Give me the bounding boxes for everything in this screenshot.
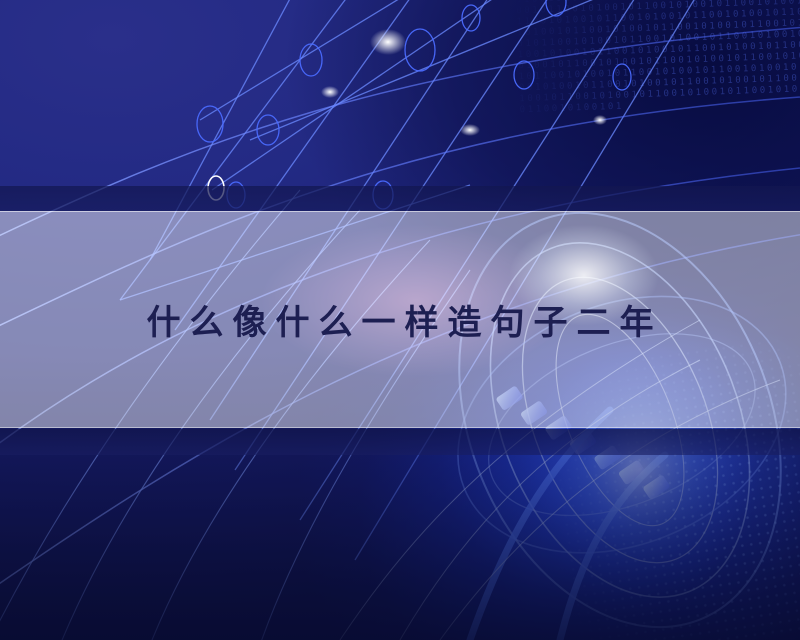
band-top-divider xyxy=(0,186,800,211)
band-bottom-divider xyxy=(0,429,800,455)
headline-container: 什么像什么一样造句子二年 xyxy=(0,211,800,428)
banner-image: 0100101011001010010110010100101100101001… xyxy=(0,0,800,640)
page-title: 什么像什么一样造句子二年 xyxy=(138,295,663,344)
